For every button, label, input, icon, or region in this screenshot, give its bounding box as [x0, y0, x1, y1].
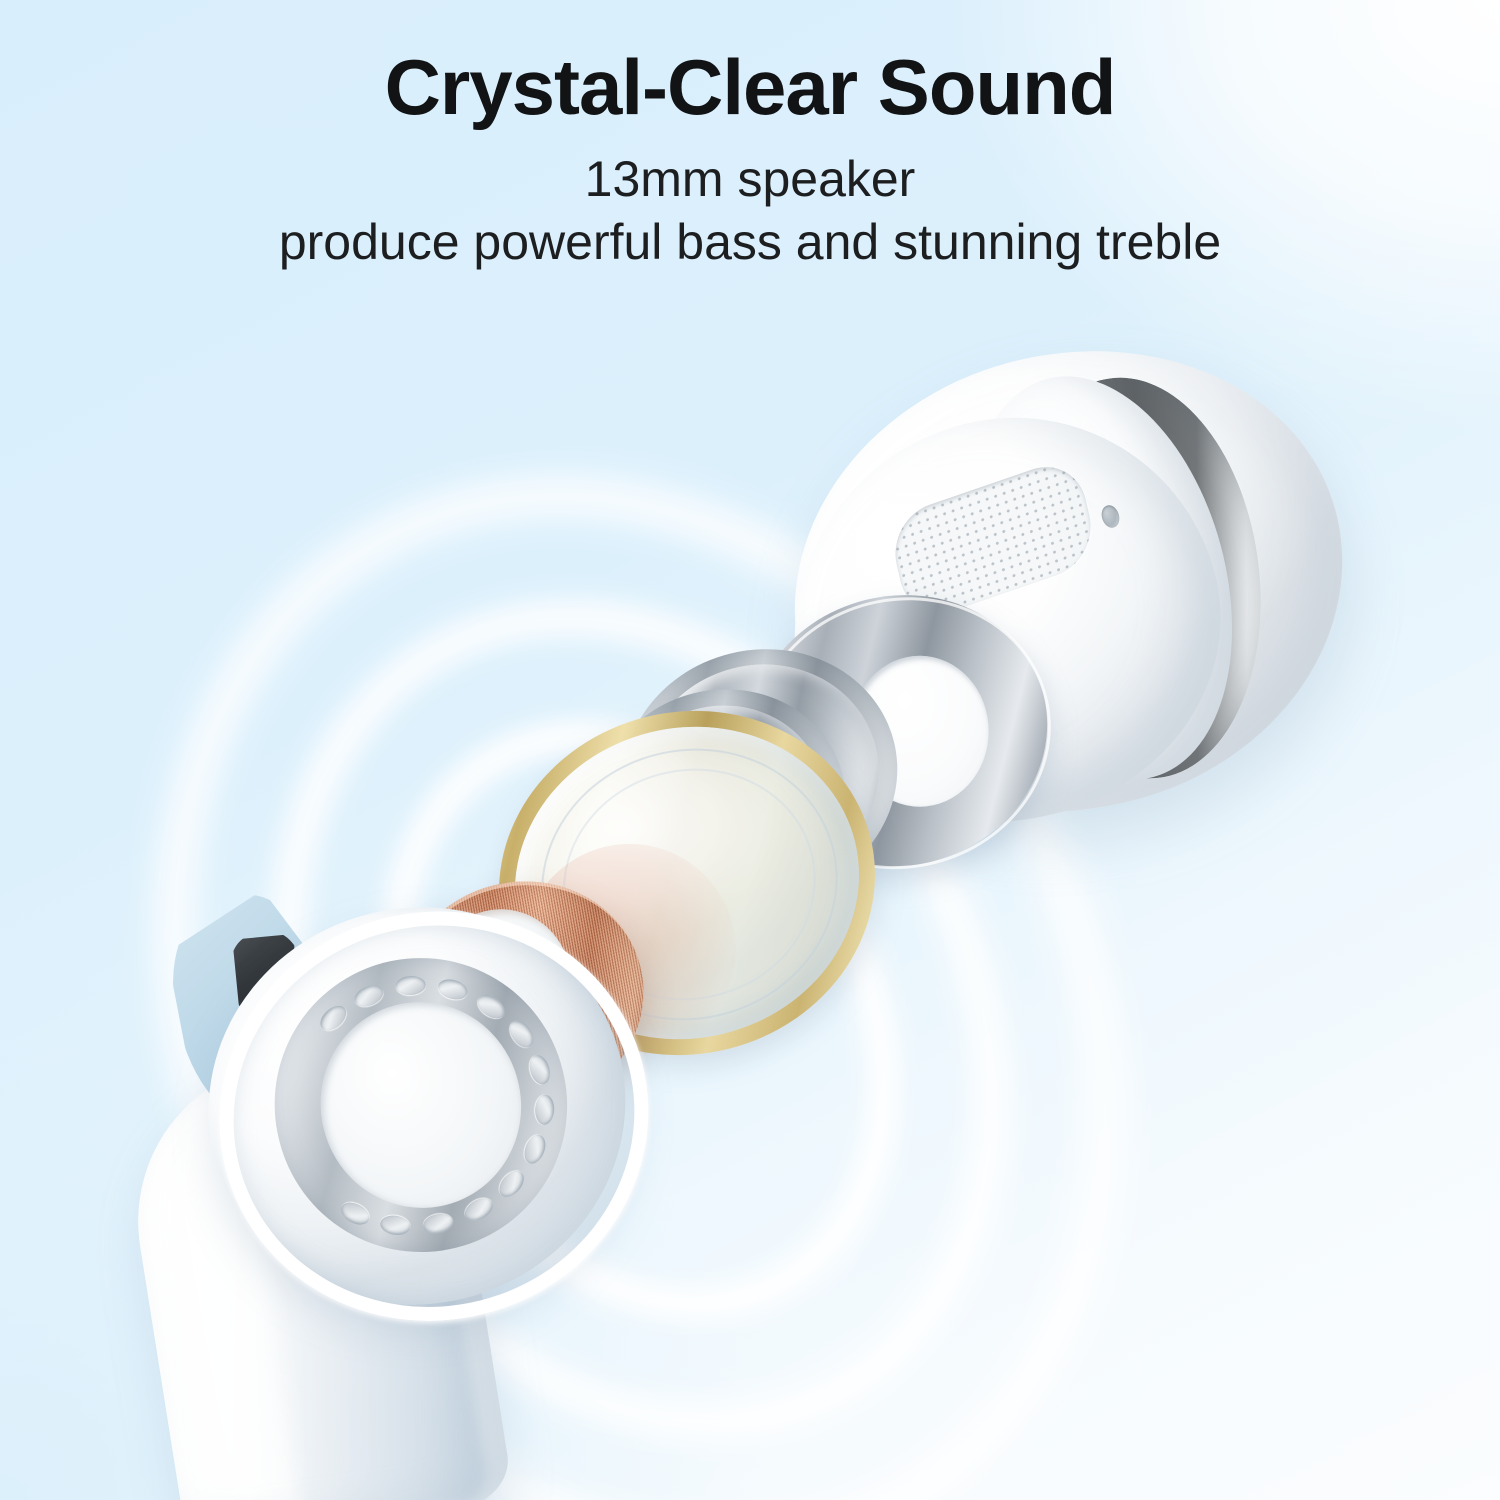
- subtitle-line-2: produce powerful bass and stunning trebl…: [0, 213, 1500, 271]
- subtitle-line-1: 13mm speaker: [0, 150, 1500, 208]
- product-feature-banner: Crystal-Clear Sound 13mm speaker produce…: [0, 0, 1500, 1500]
- page-title: Crystal-Clear Sound: [0, 42, 1500, 133]
